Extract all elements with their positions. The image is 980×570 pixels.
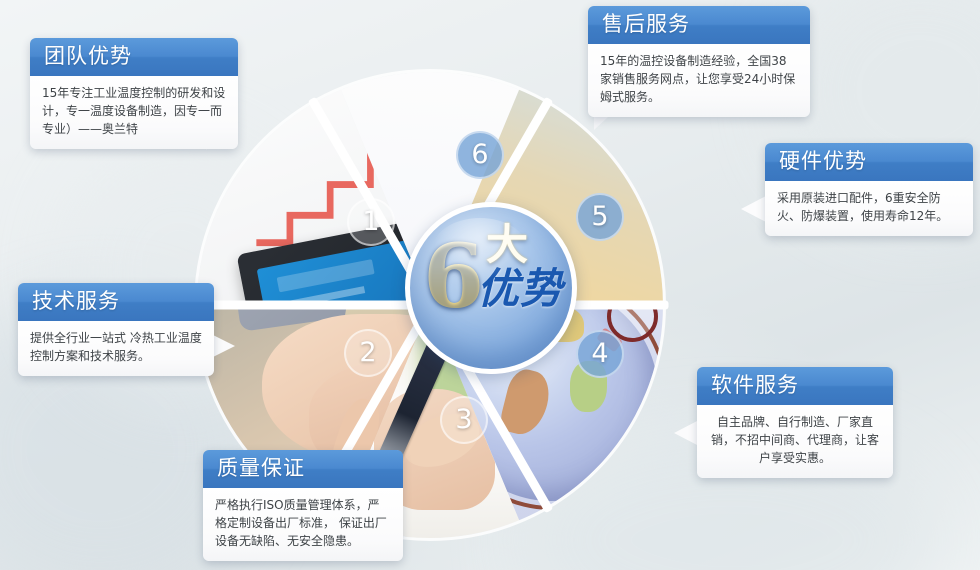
infographic-canvas: 6 大 优势 6 5 4 3 2 1 团队优势 15年专注工业温度控制的研发和设… — [0, 0, 980, 570]
segment-badge-4-label: 4 — [591, 338, 608, 369]
callout-team-title: 团队优势 — [30, 38, 238, 76]
center-number: 6 — [423, 232, 484, 320]
callout-team-advantage[interactable]: 团队优势 15年专注工业温度控制的研发和设计，专一温度设备制造，因专一而专业）—… — [30, 38, 238, 149]
callout-technical-service[interactable]: 技术服务 提供全行业一站式 冷热工业温度控制方案和技术服务。 — [18, 283, 214, 376]
segment-badge-2-label: 2 — [359, 337, 376, 368]
callout-software-service[interactable]: 软件服务 自主品牌、自行制造、厂家直销，不招中间商、代理商，让客户享受实惠。 — [697, 367, 893, 478]
callout-hardware-body: 采用原装进口配件，6重安全防火、防爆装置，使用寿命12年。 — [765, 181, 973, 236]
segment-badge-2[interactable]: 2 — [344, 329, 392, 377]
center-word: 优势 — [477, 266, 563, 312]
segment-badge-3-label: 3 — [455, 404, 472, 435]
callout-team-body: 15年专注工业温度控制的研发和设计，专一温度设备制造，因专一而专业）——奥兰特 — [30, 76, 238, 149]
callout-hardware-advantage[interactable]: 硬件优势 采用原装进口配件，6重安全防火、防爆装置，使用寿命12年。 — [765, 143, 973, 236]
segment-badge-5[interactable]: 5 — [576, 193, 624, 241]
callout-after-sales-title: 售后服务 — [588, 6, 810, 44]
callout-hardware-title: 硬件优势 — [765, 143, 973, 181]
center-badge-text: 6 大 优势 — [411, 218, 571, 358]
segment-badge-1[interactable]: 1 — [347, 198, 395, 246]
callout-quality-assurance[interactable]: 质量保证 严格执行ISO质量管理体系，严格定制设备出厂标准， 保证出厂设备无缺陷… — [203, 450, 403, 561]
callout-technical-body: 提供全行业一站式 冷热工业温度控制方案和技术服务。 — [18, 321, 214, 376]
callout-technical-tail — [211, 334, 235, 358]
segment-badge-6[interactable]: 6 — [456, 131, 504, 179]
segment-badge-6-label: 6 — [471, 139, 488, 170]
segment-badge-1-label: 1 — [362, 206, 379, 237]
callout-software-tail — [674, 420, 699, 446]
callout-quality-title: 质量保证 — [203, 450, 403, 488]
segment-badge-4[interactable]: 4 — [576, 330, 624, 378]
callout-hardware-tail — [741, 196, 766, 222]
segment-badge-3[interactable]: 3 — [440, 396, 488, 444]
segment-badge-5-label: 5 — [591, 201, 608, 232]
callout-after-sales[interactable]: 售后服务 15年的温控设备制造经验，全国38家销售服务网点，让您享受24小时保姆… — [588, 6, 810, 117]
callout-quality-body: 严格执行ISO质量管理体系，严格定制设备出厂标准， 保证出厂设备无缺陷、无安全隐… — [203, 488, 403, 561]
callout-after-sales-body: 15年的温控设备制造经验，全国38家销售服务网点，让您享受24小时保姆式服务。 — [588, 44, 810, 117]
callout-software-title: 软件服务 — [697, 367, 893, 405]
callout-technical-title: 技术服务 — [18, 283, 214, 321]
center-badge: 6 大 优势 — [405, 202, 577, 374]
center-unit: 大 — [486, 224, 528, 266]
callout-software-body: 自主品牌、自行制造、厂家直销，不招中间商、代理商，让客户享受实惠。 — [697, 405, 893, 478]
segment-divider — [192, 301, 430, 310]
